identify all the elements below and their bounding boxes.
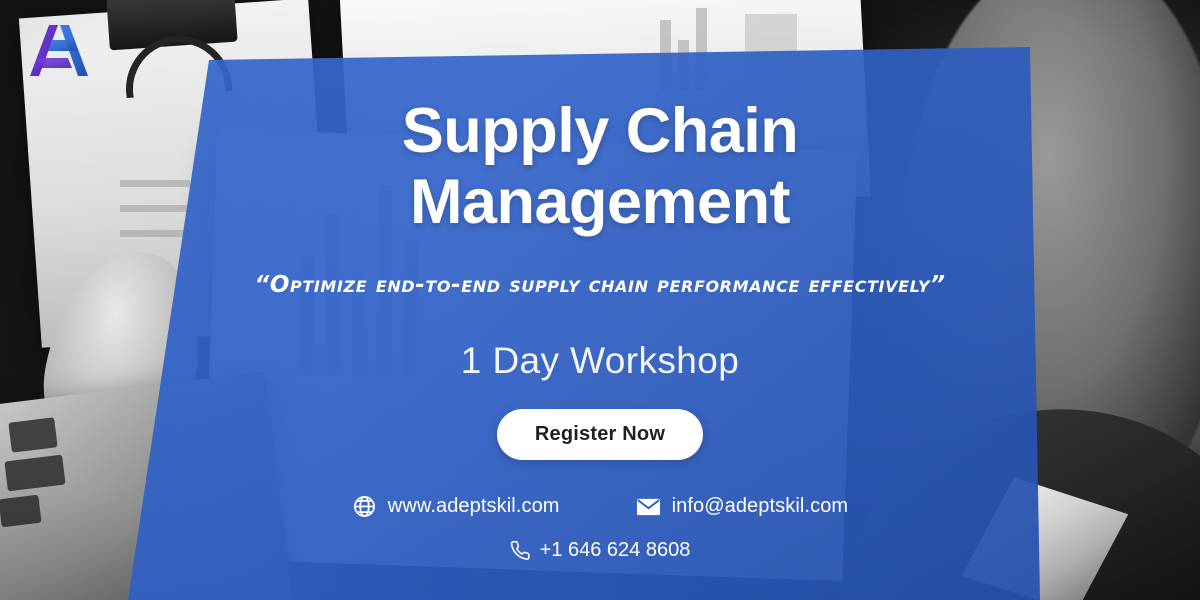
poster-content: Supply Chain Management “Optimize end-to…	[0, 0, 1200, 600]
phone-row: +1 646 624 8608	[0, 539, 1200, 562]
phone-contact[interactable]: +1 646 624 8608	[510, 539, 691, 562]
tagline: “Optimize end-to-end supply chain perfor…	[0, 272, 1200, 298]
website-text: www.adeptskil.com	[388, 495, 560, 518]
title-line-1: Supply Chain	[402, 96, 799, 166]
website-contact[interactable]: www.adeptskil.com	[352, 494, 560, 519]
globe-icon	[352, 494, 377, 519]
workshop-duration: 1 Day Workshop	[0, 340, 1200, 382]
event-poster: Supply Chain Management “Optimize end-to…	[0, 0, 1200, 600]
envelope-icon	[636, 497, 661, 517]
adeptskil-logo-icon[interactable]	[22, 18, 96, 84]
register-now-button[interactable]: Register Now	[497, 409, 703, 460]
phone-icon	[510, 540, 531, 561]
contact-row: www.adeptskil.com info@adeptskil.com	[0, 494, 1200, 519]
email-contact[interactable]: info@adeptskil.com	[636, 495, 849, 518]
email-text: info@adeptskil.com	[672, 495, 849, 518]
page-title: Supply Chain Management	[0, 96, 1200, 237]
phone-text: +1 646 624 8608	[540, 539, 691, 562]
title-line-2: Management	[0, 167, 1200, 238]
cta-container: Register Now	[0, 409, 1200, 460]
